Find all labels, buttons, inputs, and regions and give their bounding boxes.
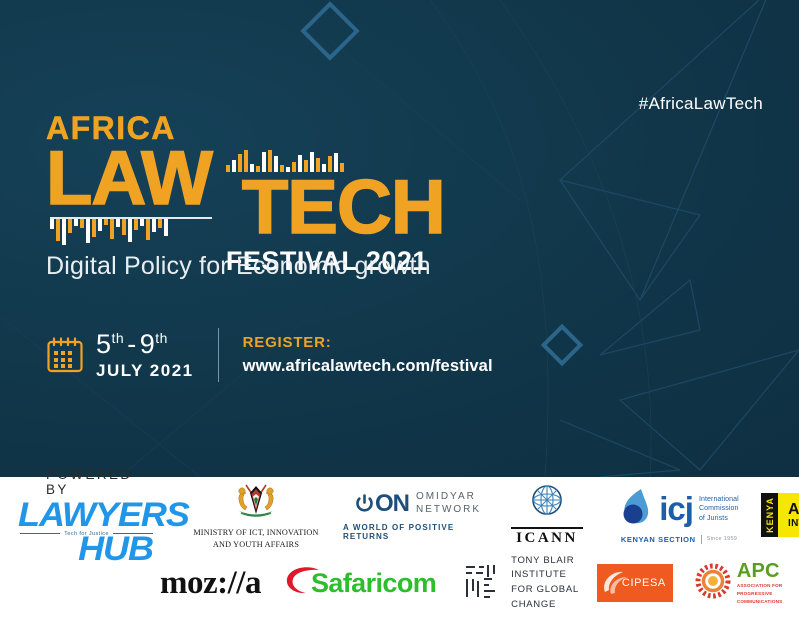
icj-section-row: KENYAN SECTION Since 1959 — [621, 535, 737, 544]
africa-law-tech-festival-poster: #AfricaLawTech AFRICA LAW TECH FESTIVAL … — [0, 0, 799, 620]
omidyar-name: OMIDYAR NETWORK — [416, 491, 481, 516]
barcode-bar — [128, 219, 132, 242]
calendar-icon — [46, 336, 84, 374]
sponsor-band: POWERED BY LAWYERS Tech for Justice HUB — [0, 477, 799, 620]
apc-sub-line1: ASSOCIATION FOR — [737, 583, 783, 589]
sponsor-row-top: POWERED BY LAWYERS Tech for Justice HUB — [0, 480, 799, 550]
mozilla-wordmark: moz://a — [160, 565, 261, 602]
omidyar-tagline: A WORLD OF POSITIVE RETURNS — [343, 523, 493, 541]
sponsor-row-bottom: moz://a Safaricom — [0, 550, 799, 616]
lawyers-hub-word-lawyers: LAWYERS — [18, 501, 161, 530]
date-range-dash: - — [124, 331, 140, 358]
amnesty-line2: INTERNATIONAL — [788, 518, 799, 529]
icj-desc-line3: of Jurists — [699, 514, 739, 523]
sponsor-safaricom[interactable]: Safaricom — [281, 564, 436, 603]
omidyar-name-line2: NETWORK — [416, 504, 481, 517]
sponsor-amnesty-international[interactable]: KENYA AMNESTY INTERNATIONAL — [761, 493, 799, 537]
barcode-bar — [50, 219, 54, 229]
registration-block: REGISTER: www.africalawtech.com/festival — [243, 334, 493, 376]
barcode-bar — [152, 219, 156, 232]
icj-flame-icon — [619, 487, 653, 532]
event-info-bar: 5th-9th JULY 2021 REGISTER: www.africala… — [46, 328, 493, 382]
omidyar-logo-row: ON OMIDYAR NETWORK — [355, 490, 481, 518]
sponsor-tony-blair-institute[interactable]: TONY BLAIR INSTITUTE FOR GLOBAL CHANGE — [462, 554, 579, 613]
powered-by-label: POWERED BY — [46, 467, 153, 497]
icj-section: KENYAN SECTION — [621, 535, 696, 544]
date-day-to: 9 — [140, 329, 156, 359]
omidyar-name-line1: OMIDYAR — [416, 491, 481, 504]
barcode-bar — [134, 219, 138, 230]
barcode-bar — [140, 219, 144, 226]
apc-wordmark: APC ASSOCIATION FOR PROGRESSIVE COMMUNIC… — [737, 561, 783, 606]
barcode-bar — [164, 219, 168, 236]
icj-logo-row: icj International Commission of Jurists — [619, 487, 739, 532]
date-day-to-suffix: th — [155, 330, 168, 346]
apc-sub-line3: COMMUNICATIONS — [737, 599, 783, 605]
event-date-block: 5th-9th JULY 2021 — [96, 331, 194, 379]
apc-name: APC — [737, 561, 783, 581]
apc-sub-line2: PROGRESSIVE — [737, 591, 783, 597]
sponsor-ministry-of-ict[interactable]: MINISTRY OF ICT, INNOVATION AND YOUTH AF… — [181, 480, 331, 549]
safaricom-wordmark: Safaricom — [311, 568, 436, 599]
icann-underline — [511, 527, 583, 529]
barcode-bar — [98, 219, 102, 231]
tony-blair-name: TONY BLAIR INSTITUTE FOR GLOBAL CHANGE — [511, 554, 579, 613]
omidyar-letter-n: ON — [375, 490, 409, 518]
barcode-bar — [68, 219, 72, 233]
tbi-line2: INSTITUTE — [511, 568, 579, 583]
event-date-days: 5th-9th — [96, 331, 194, 358]
barcode-bar — [104, 219, 108, 225]
barcode-bar — [92, 219, 96, 237]
barcode-bar — [62, 219, 66, 245]
barcode-bar — [80, 219, 84, 228]
tbi-line3: FOR GLOBAL — [511, 583, 579, 598]
register-label: REGISTER: — [243, 334, 493, 353]
ministry-name-line1: MINISTRY OF ICT, INNOVATION — [193, 527, 318, 538]
barcode-bar — [110, 219, 114, 239]
icj-letters: icj — [659, 494, 693, 524]
icj-since: Since 1959 — [707, 536, 738, 542]
barcode-bar — [146, 219, 150, 240]
amnesty-yellow-panel: AMNESTY INTERNATIONAL — [778, 493, 799, 537]
register-url[interactable]: www.africalawtech.com/festival — [243, 356, 493, 377]
amnesty-wordmark: AMNESTY INTERNATIONAL — [788, 501, 799, 530]
barcode-bar — [86, 219, 90, 243]
kenya-coat-of-arms-icon — [229, 480, 283, 525]
icann-globe-icon — [526, 483, 568, 526]
barcode-bar — [74, 219, 78, 226]
tony-blair-mark-icon — [462, 561, 502, 606]
barcode-bar — [226, 165, 230, 172]
tbi-line4: CHANGE — [511, 598, 579, 613]
festival-tagline: Digital Policy for Economic growth — [46, 252, 431, 281]
icann-name: ICANN — [516, 530, 578, 547]
barcode-bar — [116, 219, 120, 227]
icj-desc-line2: Commission — [699, 504, 739, 513]
amnesty-kenya-tab: KENYA — [761, 493, 778, 537]
icj-description: International Commission of Jurists — [699, 495, 739, 523]
sponsor-apc[interactable]: APC ASSOCIATION FOR PROGRESSIVE COMMUNIC… — [693, 561, 783, 606]
event-month-year: JULY 2021 — [96, 362, 194, 379]
barcode-bar — [158, 219, 162, 228]
sponsor-omidyar-network[interactable]: ON OMIDYAR NETWORK A WORLD OF POSITIVE R… — [343, 490, 493, 541]
sponsor-icann[interactable]: ICANN — [501, 483, 593, 547]
ministry-name: MINISTRY OF ICT, INNOVATION AND YOUTH AF… — [193, 527, 318, 549]
barcode-decoration-bottom — [50, 217, 212, 247]
amnesty-line1: AMNESTY — [788, 501, 799, 519]
sponsor-icj[interactable]: icj International Commission of Jurists … — [599, 487, 759, 544]
brand-law-column: LAW — [46, 146, 212, 247]
amnesty-logo-box: KENYA AMNESTY INTERNATIONAL — [761, 493, 799, 537]
omidyar-power-mark-icon: ON — [355, 490, 409, 518]
hero-section: #AfricaLawTech AFRICA LAW TECH FESTIVAL … — [0, 0, 799, 477]
date-day-from: 5 — [96, 329, 112, 359]
icj-desc-line1: International — [699, 495, 739, 504]
apc-circle-icon — [693, 561, 733, 606]
icj-separator — [701, 535, 702, 544]
brand-word-law: LAW — [46, 146, 212, 213]
brand-word-tech: TECH — [242, 175, 445, 242]
amnesty-kenya-label: KENYA — [765, 497, 775, 533]
barcode-bar — [122, 219, 126, 235]
sponsor-cipesa[interactable]: CIPESA — [597, 564, 673, 602]
barcode-bar — [232, 160, 236, 172]
ministry-name-line2: AND YOUTH AFFAIRS — [193, 539, 318, 550]
cipesa-wordmark: CIPESA — [622, 577, 666, 589]
barcode-bar — [56, 219, 60, 241]
sponsor-mozilla[interactable]: moz://a — [160, 565, 261, 602]
tbi-line1: TONY BLAIR — [511, 554, 579, 569]
info-divider — [218, 328, 219, 382]
date-day-from-suffix: th — [112, 330, 125, 346]
sponsor-lawyers-hub[interactable]: POWERED BY LAWYERS Tech for Justice HUB — [18, 467, 153, 564]
hashtag-label: #AfricaLawTech — [639, 94, 763, 114]
